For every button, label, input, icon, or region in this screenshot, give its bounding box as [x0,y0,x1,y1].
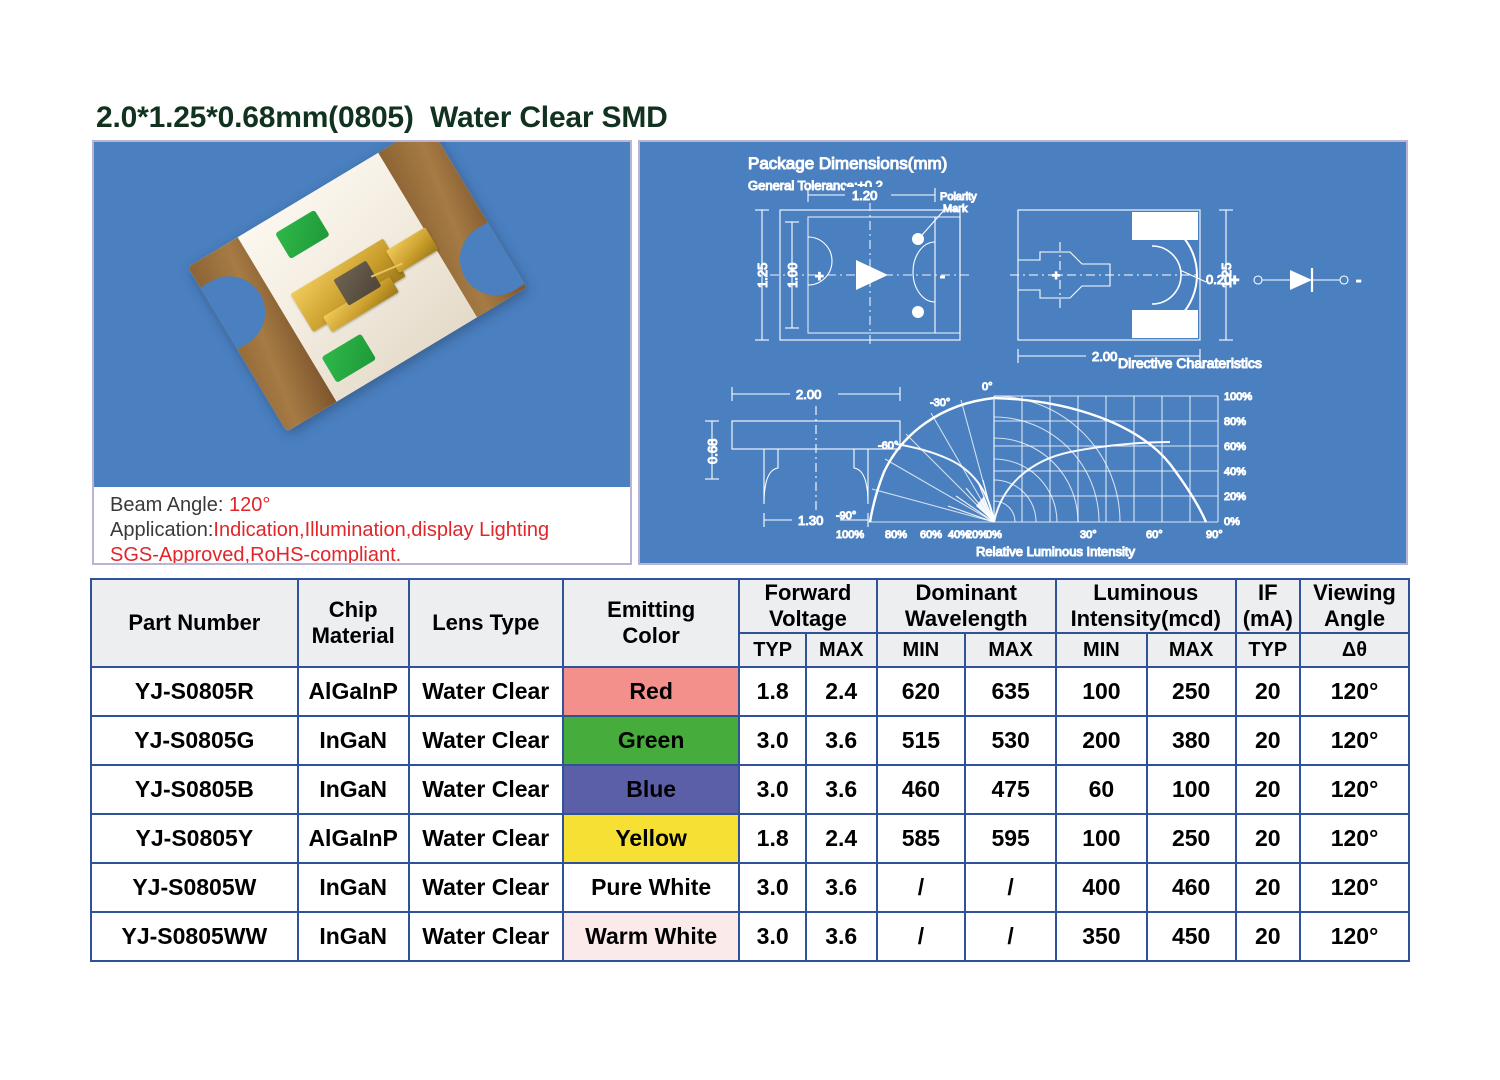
th-fv-l1: Forward [765,580,852,605]
photo-caption: Beam Angle: 120° Application:Indication,… [94,487,630,563]
cell-vf-max: 2.4 [806,667,877,716]
cell-vf-max: 3.6 [806,863,877,912]
cell-iv-min: 100 [1056,814,1147,863]
table-body: YJ-S0805RAlGaInPWater ClearRed1.82.46206… [91,667,1409,961]
cell-wl-max: 530 [965,716,1056,765]
th-dominant-wavelength: Dominant Wavelength [877,579,1056,633]
cell-part-number: YJ-S0805G [91,716,298,765]
th-va-l1: Viewing [1313,580,1396,605]
cell-if-typ: 20 [1236,765,1301,814]
cell-vf-max: 3.6 [806,716,877,765]
dim-top-width: 1.20 [852,188,877,203]
cell-if-typ: 20 [1236,863,1301,912]
cell-iv-max: 100 [1147,765,1236,814]
cell-chip-material: InGaN [298,716,409,765]
cell-emitting-color: Pure White [563,863,739,912]
cell-wl-min: 585 [877,814,966,863]
cell-wl-max: 635 [965,667,1056,716]
table-row: YJ-S0805GInGaNWater ClearGreen3.03.65155… [91,716,1409,765]
polar-x-100: 100% [836,529,864,541]
dim-side-height: 0.68 [705,439,720,464]
th-sub-view-theta: Δθ [1300,633,1409,667]
th-fv-l2: Voltage [769,606,847,631]
polar-x-0: 0% [986,529,1002,541]
polar-x-60: 60% [920,529,942,541]
cell-part-number: YJ-S0805WW [91,912,298,961]
th-emitting-l1: Emitting [607,597,695,622]
dim-side-width: 2.00 [796,387,821,402]
cell-chip-material: AlGaInP [298,667,409,716]
compliance-line: SGS-Approved,RoHS-compliant. [110,543,630,565]
polar-angle-neg30: -30° [930,397,950,409]
cell-lens-type: Water Clear [409,765,563,814]
beam-angle-label: Beam Angle: [110,494,229,516]
datasheet-page: 2.0*1.25*0.68mm(0805) Water Clear SMD Be [0,0,1500,1080]
cell-vf-typ: 1.8 [739,814,806,863]
cell-wl-min: 620 [877,667,966,716]
product-photo-panel: Beam Angle: 120° Application:Indication,… [92,140,632,565]
led-circuit-symbol: + - [1230,268,1361,292]
cell-lens-type: Water Clear [409,667,563,716]
polar-title: Directive Charateristics [1118,355,1262,371]
cell-wl-max: / [965,863,1056,912]
th-sub-vf-max: MAX [806,633,877,667]
cell-chip-material: InGaN [298,912,409,961]
th-chip-material: Chip Material [298,579,409,667]
circuit-minus: - [1356,272,1361,289]
cell-part-number: YJ-S0805B [91,765,298,814]
polarity-mark-label-1: Polarity [940,191,977,203]
table-row: YJ-S0805WWInGaNWater ClearWarm White3.03… [91,912,1409,961]
cell-if-typ: 20 [1236,814,1301,863]
th-if: IF (mA) [1236,579,1301,633]
th-dw-l2: Wavelength [905,606,1028,631]
cell-view-angle: 120° [1300,765,1409,814]
smd-led-photo [94,142,630,487]
led-component-illustration [188,142,536,447]
cell-vf-typ: 3.0 [739,716,806,765]
th-viewing-angle: Viewing Angle [1300,579,1409,633]
polar-angle-neg90: -90° [836,510,856,522]
cell-wl-min: 460 [877,765,966,814]
cell-iv-min: 200 [1056,716,1147,765]
cell-chip-material: InGaN [298,765,409,814]
cell-vf-max: 3.6 [806,912,877,961]
cell-chip-material: InGaN [298,863,409,912]
cell-view-angle: 120° [1300,814,1409,863]
beam-angle-line: Beam Angle: 120° [110,493,630,518]
cell-wl-min: 515 [877,716,966,765]
polar-x-20: 20% [966,529,988,541]
th-li-l2: Intensity(mcd) [1071,606,1221,631]
cell-emitting-color: Red [563,667,739,716]
th-chip-material-l2: Material [312,623,395,648]
cell-iv-min: 350 [1056,912,1147,961]
dim-pad-pitch: 1.30 [798,513,823,528]
cell-part-number: YJ-S0805Y [91,814,298,863]
package-drawing-panel: Package Dimensions(mm) General Tolerance… [638,140,1408,565]
specification-table: Part Number Chip Material Lens Type Emit… [90,578,1410,962]
polar-x-30deg: 30° [1080,529,1097,541]
cell-lens-type: Water Clear [409,716,563,765]
table-row: YJ-S0805YAlGaInPWater ClearYellow1.82.45… [91,814,1409,863]
cell-wl-min: / [877,912,966,961]
cell-part-number: YJ-S0805R [91,667,298,716]
polar-pct-40: 40% [1224,466,1246,478]
th-if-l2: (mA) [1243,606,1293,631]
table-row: YJ-S0805WInGaNWater ClearPure White3.03.… [91,863,1409,912]
dim-top-height-outer: 1.25 [755,263,770,288]
application-value: Indication,Illumination,display Lighting [213,519,549,541]
cell-if-typ: 20 [1236,667,1301,716]
cell-wl-max: 595 [965,814,1056,863]
application-line: Application:Indication,Illumination,disp… [110,518,630,543]
polar-pct-20: 20% [1224,491,1246,503]
cell-iv-min: 400 [1056,863,1147,912]
cell-iv-max: 250 [1147,667,1236,716]
drawing-heading: Package Dimensions(mm) [748,154,947,173]
th-part-number: Part Number [91,579,298,667]
th-if-l1: IF [1258,580,1278,605]
polar-pct-60: 60% [1224,441,1246,453]
th-forward-voltage: Forward Voltage [739,579,876,633]
polar-angle-neg60: -60° [878,440,898,452]
page-title: 2.0*1.25*0.68mm(0805) Water Clear SMD [96,101,668,135]
application-label: Application: [110,519,213,541]
th-chip-material-l1: Chip [329,597,378,622]
polar-angle-0: 0° [982,381,993,393]
directive-characteristics-chart: Directive Charateristics [836,355,1262,559]
table-row: YJ-S0805BInGaNWater ClearBlue3.03.646047… [91,765,1409,814]
cell-vf-typ: 3.0 [739,863,806,912]
polar-pct-0: 0% [1224,516,1240,528]
circuit-plus: + [1230,272,1239,289]
cell-view-angle: 120° [1300,716,1409,765]
table-row: YJ-S0805RAlGaInPWater ClearRed1.82.46206… [91,667,1409,716]
th-sub-iv-min: MIN [1056,633,1147,667]
th-emitting-l2: Color [622,623,679,648]
cell-iv-max: 450 [1147,912,1236,961]
cell-wl-max: / [965,912,1056,961]
cell-vf-typ: 3.0 [739,765,806,814]
cell-if-typ: 20 [1236,912,1301,961]
polar-xlabel: Relative Luminous Intensity [976,544,1135,559]
th-emitting-color: Emitting Color [563,579,739,667]
dim-top-height-inner: 1.00 [785,263,800,288]
th-li-l1: Luminous [1093,580,1198,605]
cell-emitting-color: Green [563,716,739,765]
cell-part-number: YJ-S0805W [91,863,298,912]
dim-body-length: 2.00 [1092,349,1117,364]
cell-vf-typ: 1.8 [739,667,806,716]
cell-view-angle: 120° [1300,667,1409,716]
cell-lens-type: Water Clear [409,863,563,912]
cell-iv-max: 250 [1147,814,1236,863]
cell-lens-type: Water Clear [409,814,563,863]
cell-emitting-color: Blue [563,765,739,814]
th-va-l2: Angle [1324,606,1385,631]
cell-chip-material: AlGaInP [298,814,409,863]
cell-vf-typ: 3.0 [739,912,806,961]
cell-if-typ: 20 [1236,716,1301,765]
polar-x-60deg: 60° [1146,529,1163,541]
th-sub-wl-max: MAX [965,633,1056,667]
table-header-row-1: Part Number Chip Material Lens Type Emit… [91,579,1409,633]
cell-vf-max: 3.6 [806,765,877,814]
polarity-minus-top: - [940,268,945,285]
polar-x-90deg: 90° [1206,529,1223,541]
th-luminous-intensity: Luminous Intensity(mcd) [1056,579,1236,633]
polar-pct-100: 100% [1224,391,1252,403]
cell-iv-min: 100 [1056,667,1147,716]
th-sub-if-typ: TYP [1236,633,1301,667]
cell-lens-type: Water Clear [409,912,563,961]
cell-iv-max: 380 [1147,716,1236,765]
th-dw-l1: Dominant [916,580,1017,605]
polarity-plus-top: + [815,268,824,285]
cell-wl-min: / [877,863,966,912]
cell-view-angle: 120° [1300,912,1409,961]
th-sub-vf-typ: TYP [739,633,806,667]
cell-iv-min: 60 [1056,765,1147,814]
th-sub-iv-max: MAX [1147,633,1236,667]
cell-view-angle: 120° [1300,863,1409,912]
cell-vf-max: 2.4 [806,814,877,863]
cell-iv-max: 460 [1147,863,1236,912]
polarity-mark-label-2: Mark [943,203,968,215]
polarity-plus-leadframe: + [1052,267,1060,283]
package-drawing-svg: Package Dimensions(mm) General Tolerance… [640,142,1406,563]
cell-emitting-color: Warm White [563,912,739,961]
polar-x-80: 80% [885,529,907,541]
th-lens-type: Lens Type [409,579,563,667]
th-sub-wl-min: MIN [877,633,966,667]
cell-wl-max: 475 [965,765,1056,814]
cell-emitting-color: Yellow [563,814,739,863]
beam-angle-value: 120° [229,494,270,516]
polar-pct-80: 80% [1224,416,1246,428]
